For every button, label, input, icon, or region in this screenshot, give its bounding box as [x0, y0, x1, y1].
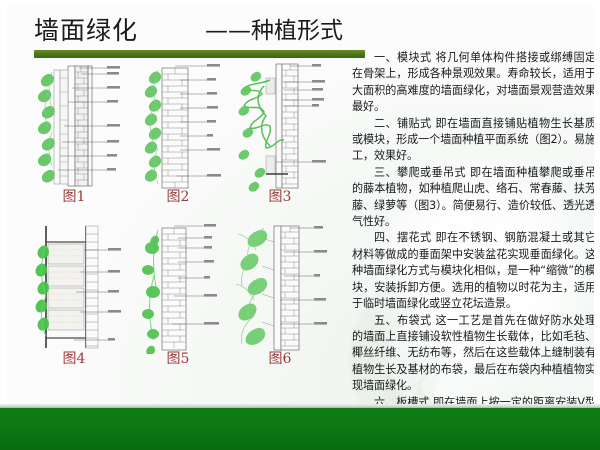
figure-row-bottom: 图4 — [22, 220, 332, 383]
figure-item: 图1 — [24, 58, 124, 221]
figure-caption: 图3 — [230, 190, 330, 204]
figure-1-diagram — [24, 58, 124, 192]
figure-3-diagram — [230, 58, 330, 192]
figure-caption: 图4 — [24, 352, 124, 366]
figure-caption: 图1 — [24, 190, 124, 204]
figure-4-diagram — [24, 220, 124, 354]
figure-grid: 图1 — [22, 58, 332, 388]
title-underline-rule — [34, 50, 365, 58]
figure-caption: 图5 — [128, 352, 228, 366]
figure-6-diagram — [230, 220, 330, 354]
figure-5-diagram — [128, 220, 228, 354]
footer-bar — [0, 408, 600, 450]
body-text-column: 一、模块式 将几何单体构件搭接或绑缚固定在骨架上，形成各种景观效果。寿命较长，适… — [352, 50, 596, 400]
figure-2-diagram — [128, 58, 228, 192]
figure-caption: 图6 — [230, 352, 330, 366]
page-title: 墙面绿化 — [34, 18, 138, 43]
figure-item: 图6 — [230, 220, 330, 383]
slide-canvas: 墙面绿化 ——种植形式 — [0, 0, 600, 450]
page-subtitle: ——种植形式 — [205, 20, 343, 43]
figure-caption: 图2 — [128, 190, 228, 204]
body-paragraph-1: 一、模块式 将几何单体构件搭接或绑缚固定在骨架上，形成各种景观效果。寿命较长，适… — [352, 50, 596, 116]
slide-title-block: 墙面绿化 ——种植形式 — [0, 8, 600, 56]
body-paragraph-3: 三、攀爬或垂吊式 即在墙面种植攀爬或垂吊的藤本植物，如种植爬山虎、络石、常春藤、… — [352, 165, 596, 231]
body-paragraph-2: 二、铺贴式 即在墙面直接铺贴植物生长基质或模块，形成一个墙面种植平面系统（图2）… — [352, 116, 596, 165]
figure-item: 图2 — [128, 58, 228, 221]
body-paragraph-4: 四、摆花式 即在不锈钢、钢筋混凝土或其它材料等做成的垂面架中安装盆花实现垂面绿化… — [352, 230, 596, 312]
figure-item: 图5 — [128, 220, 228, 383]
figure-item: 图4 — [24, 220, 124, 383]
figure-row-top: 图1 — [22, 58, 332, 221]
body-paragraph-5: 五、布袋式 这一工艺是首先在做好防水处理的墙面上直接铺设软性植物生长载体，比如毛… — [352, 313, 596, 395]
figure-item: 图3 — [230, 58, 330, 221]
